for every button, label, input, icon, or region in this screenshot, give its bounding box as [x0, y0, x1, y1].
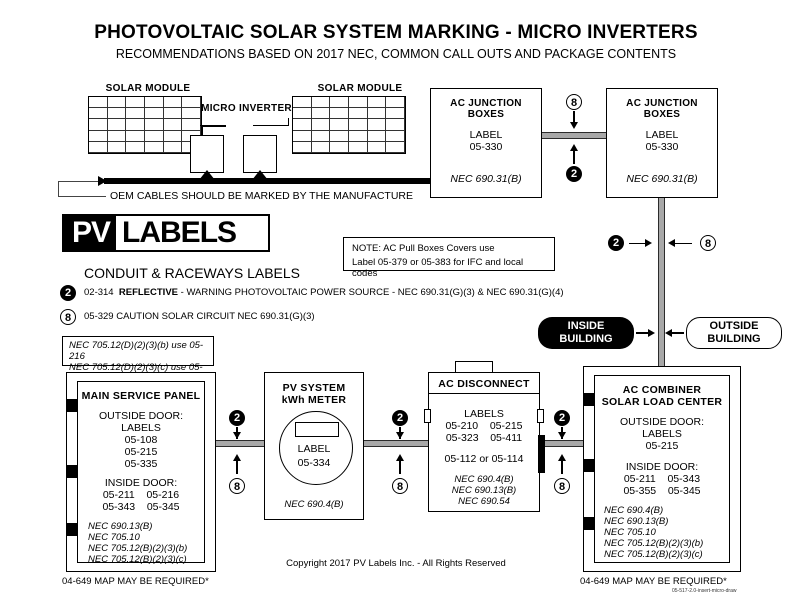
msp-knockout-3 — [67, 523, 78, 536]
ac-disconnect-label-row-0: 05-210 05-215 — [429, 420, 539, 432]
inverter-2-tap — [252, 170, 268, 180]
inside-building-line-1: INSIDE — [568, 320, 605, 333]
combiner-nec-1: NEC 690.13(B) — [595, 516, 729, 527]
msp-2-arrowhead-icon — [233, 432, 241, 439]
msp-inside-row-1: 05-343 05-345 — [78, 501, 204, 513]
pv-system-kwh-meter: PV SYSTEM kWh METER LABEL 05-334 NEC 690… — [264, 372, 364, 520]
combiner-knockout-1 — [584, 393, 595, 406]
disc-8-arrowhead-icon — [558, 454, 566, 461]
right-2-arrowhead-icon — [645, 239, 652, 247]
jb-left-title-2: BOXES — [431, 109, 541, 120]
right-8-arrowhead-icon — [668, 239, 675, 247]
acd-handle — [538, 435, 545, 473]
page-title: PHOTOVOLTAIC SOLAR SYSTEM MARKING - MICR… — [0, 22, 792, 44]
combiner-inside-0-0: 05-211 — [624, 473, 656, 485]
solar-module-left-label: SOLAR MODULE — [88, 83, 208, 94]
logo-labels-text: LABELS — [116, 216, 242, 250]
msp-inside-row-0: 05-211 05-216 — [78, 489, 204, 501]
ac-junction-box-left: AC JUNCTION BOXES LABEL 05-330 NEC 690.3… — [430, 88, 542, 198]
combiner-inside-heading: INSIDE DOOR: — [595, 461, 729, 473]
acd-label-0-0: 05-210 — [445, 420, 478, 432]
msp-8-arrow-shaft-icon — [236, 460, 238, 474]
acd-nec-1: NEC 690.13(B) — [429, 485, 539, 496]
msp-outside-label-0: 05-108 — [78, 434, 204, 446]
combiner-inside-1-1: 05-345 — [668, 485, 701, 497]
marker-jb-bottom-2: 2 — [566, 166, 582, 182]
msp-outside-heading: OUTSIDE DOOR: — [78, 410, 204, 422]
inverter-2-lead — [253, 125, 289, 126]
meter-8-arrow-shaft-icon — [399, 460, 401, 474]
jb-left-label-number: 05-330 — [431, 141, 541, 153]
copyright-text: Copyright 2017 PV Labels Inc. - All Righ… — [0, 558, 792, 569]
oem-leader — [58, 181, 59, 197]
acd-label-1-0: 05-323 — [446, 432, 479, 444]
combiner-title-1: AC COMBINER — [595, 384, 729, 396]
inverter-1-lead — [202, 126, 226, 136]
msp-8-arrowhead-icon — [233, 454, 241, 461]
combiner-nec-0: NEC 690.4(B) — [595, 505, 729, 516]
combiner-inside-1-0: 05-355 — [623, 485, 656, 497]
combiner-outside-label-0: 05-215 — [595, 440, 729, 452]
combiner-inside-row-0: 05-211 05-343 — [595, 473, 729, 485]
conduit-row-1-body: - WARNING PHOTOVOLTAIC POWER SOURCE - NE… — [178, 287, 564, 298]
oem-cable-note: OEM CABLES SHOULD BE MARKED BY THE MANUF… — [110, 190, 413, 202]
conduit-row-1-code: 02-314 — [84, 287, 114, 298]
right-8-arrow-shaft-icon — [674, 243, 692, 245]
combiner-footer: 04-649 MAP MAY BE REQUIRED* — [580, 576, 727, 587]
jb-interconnect-conduit — [542, 132, 610, 139]
oem-leader-bottom — [58, 196, 106, 197]
oem-arrow-icon — [98, 176, 107, 186]
jb-bottom-arrow-icon — [573, 150, 575, 164]
msp-inside-0-1: 05-216 — [146, 489, 179, 501]
inside-building-pill: INSIDE BUILDING — [538, 317, 634, 349]
meter-nec: NEC 690.4(B) — [265, 499, 363, 510]
msp-knockout-2 — [67, 465, 78, 478]
ac-disconnect-labels-word: LABELS — [429, 408, 539, 420]
meter-label-number: 05-334 — [265, 457, 363, 469]
meter-8-arrowhead-icon — [396, 454, 404, 461]
msp-outside-label-1: 05-215 — [78, 446, 204, 458]
outside-building-line-1: OUTSIDE — [710, 320, 759, 333]
inverter-1-tap — [199, 170, 215, 180]
acd-label-0-1: 05-215 — [490, 420, 523, 432]
acd-lug-right — [537, 409, 544, 423]
ac-disconnect-label-row-1: 05-323 05-411 — [429, 432, 539, 444]
micro-inverter-2 — [243, 135, 277, 173]
conduit-row-2-code: 05-329 — [84, 311, 114, 322]
inverter-1-lead-h — [200, 125, 226, 126]
page-subtitle: RECOMMENDATIONS BASED ON 2017 NEC, COMMO… — [0, 47, 792, 61]
acd-label-1-1: 05-411 — [490, 432, 522, 444]
msp-knockout-1 — [67, 399, 78, 412]
solar-module-right-label: SOLAR MODULE — [300, 83, 420, 94]
inverter-2-lead-v — [288, 118, 289, 126]
ac-disconnect: AC DISCONNECT LABELS 05-210 05-215 05-32… — [428, 372, 540, 512]
conduit-row-1-text: 02-314 REFLECTIVE - WARNING PHOTOVOLTAIC… — [84, 287, 564, 298]
jb-bottom-arrowhead-icon — [570, 144, 578, 151]
micro-inverter-1 — [190, 135, 224, 173]
trunk-bus — [104, 178, 444, 184]
combiner-knockout-3 — [584, 517, 595, 530]
marker-disc-2: 2 — [554, 410, 570, 426]
meter-label-word: LABEL — [265, 443, 363, 455]
msp-labels-word: LABELS — [78, 422, 204, 434]
outside-arrow-shaft-icon — [670, 332, 684, 334]
msp-outside-label-2: 05-335 — [78, 458, 204, 470]
ac-junction-box-right: AC JUNCTION BOXES LABEL 05-330 NEC 690.3… — [606, 88, 718, 198]
msp-footer: 04-649 MAP MAY BE REQUIRED* — [62, 576, 209, 587]
meter-title-2: kWh METER — [265, 394, 363, 406]
solar-module-left — [88, 96, 202, 154]
jb-top-arrowhead-icon — [570, 122, 578, 129]
document-id: 05-517-2.0-insert-micro-draw — [672, 588, 736, 594]
combiner-title-2: SOLAR LOAD CENTER — [595, 396, 729, 408]
nec705-line-1: NEC 705.12(D)(2)(3)(b) use 05-216 — [69, 340, 207, 362]
ac-disconnect-title: AC DISCONNECT — [429, 378, 539, 390]
outside-building-line-2: BUILDING — [707, 333, 760, 346]
msp-nec-0: NEC 690.13(B) — [78, 521, 204, 532]
pv-labels-logo: PV LABELS — [62, 214, 270, 252]
meter-register-window — [295, 422, 339, 437]
nec705-box: NEC 705.12(D)(2)(3)(b) use 05-216 NEC 70… — [62, 336, 214, 366]
combiner-knockout-2 — [584, 459, 595, 472]
marker-disc-8: 8 — [554, 478, 570, 494]
marker-jb-top-8: 8 — [566, 94, 582, 110]
conduit-row-2-text: 05-329 CAUTION SOLAR CIRCUIT NEC 690.31(… — [84, 311, 315, 322]
inside-building-line-2: BUILDING — [559, 333, 612, 346]
acd-nec-0: NEC 690.4(B) — [429, 474, 539, 485]
msp-nec-2: NEC 705.12(B)(2)(3)(b) — [78, 543, 204, 554]
marker-right-2: 2 — [608, 235, 624, 251]
ac-disconnect-alt-labels: 05-112 or 05-114 — [429, 453, 539, 465]
outside-building-pill: OUTSIDE BUILDING — [686, 317, 782, 349]
oem-leader-top — [58, 181, 103, 182]
conduit-raceways-heading: CONDUIT & RACEWAYS LABELS — [84, 265, 300, 281]
conduit-row-1-emphasis: REFLECTIVE — [119, 287, 178, 298]
jb-left-nec: NEC 690.31(B) — [431, 173, 541, 185]
main-service-panel: MAIN SERVICE PANEL OUTSIDE DOOR: LABELS … — [66, 372, 216, 572]
jb-left-label-word: LABEL — [431, 129, 541, 141]
solar-module-right — [292, 96, 406, 154]
disc-8-arrow-shaft-icon — [561, 460, 563, 474]
jb-left-title-1: AC JUNCTION — [431, 98, 541, 109]
combiner-labels-word: LABELS — [595, 428, 729, 440]
meter-title-1: PV SYSTEM — [265, 382, 363, 394]
marker-meter-2: 2 — [392, 410, 408, 426]
acd-nec-2: NEC 690.54 — [429, 496, 539, 507]
ac-combiner-solar-load-center: AC COMBINER SOLAR LOAD CENTER OUTSIDE DO… — [583, 366, 741, 572]
msp-inside-1-1: 05-345 — [147, 501, 180, 513]
marker-msp-8: 8 — [229, 478, 245, 494]
msp-title: MAIN SERVICE PANEL — [78, 390, 204, 402]
logo-pv-text: PV — [64, 216, 116, 250]
jb-right-label-number: 05-330 — [607, 141, 717, 153]
acd-lug-left — [424, 409, 431, 423]
outside-arrowhead-icon — [665, 329, 672, 337]
jb-right-title-1: AC JUNCTION — [607, 98, 717, 109]
combiner-inside-row-1: 05-355 05-345 — [595, 485, 729, 497]
jb-right-title-2: BOXES — [607, 109, 717, 120]
marker-conduit-row-2: 8 — [60, 309, 76, 325]
combiner-outside-heading: OUTSIDE DOOR: — [595, 416, 729, 428]
note-line-2: Label 05-379 or 05-383 for IFC and local… — [352, 257, 546, 279]
msp-inside-heading: INSIDE DOOR: — [78, 477, 204, 489]
jb-right-label-word: LABEL — [607, 129, 717, 141]
main-riser-conduit — [658, 198, 665, 374]
jb-right-nec: NEC 690.31(B) — [607, 173, 717, 185]
msp-inside-1-0: 05-343 — [102, 501, 135, 513]
inside-arrowhead-icon — [648, 329, 655, 337]
marker-meter-8: 8 — [392, 478, 408, 494]
ac-disconnect-divider — [429, 393, 539, 394]
combiner-inside-0-1: 05-343 — [667, 473, 700, 485]
note-box: NOTE: AC Pull Boxes Covers use Label 05-… — [343, 237, 555, 271]
msp-inside-0-0: 05-211 — [103, 489, 135, 501]
disc-2-arrowhead-icon — [558, 432, 566, 439]
note-line-1: NOTE: AC Pull Boxes Covers use — [352, 243, 546, 254]
conduit-row-2-body: CAUTION SOLAR CIRCUIT NEC 690.31(G)(3) — [114, 311, 315, 322]
marker-msp-2: 2 — [229, 410, 245, 426]
meter-2-arrowhead-icon — [396, 432, 404, 439]
combiner-nec-3: NEC 705.12(B)(2)(3)(b) — [595, 538, 729, 549]
msp-nec-1: NEC 705.10 — [78, 532, 204, 543]
combiner-nec-2: NEC 705.10 — [595, 527, 729, 538]
marker-conduit-row-1: 2 — [60, 285, 76, 301]
marker-right-8: 8 — [700, 235, 716, 251]
